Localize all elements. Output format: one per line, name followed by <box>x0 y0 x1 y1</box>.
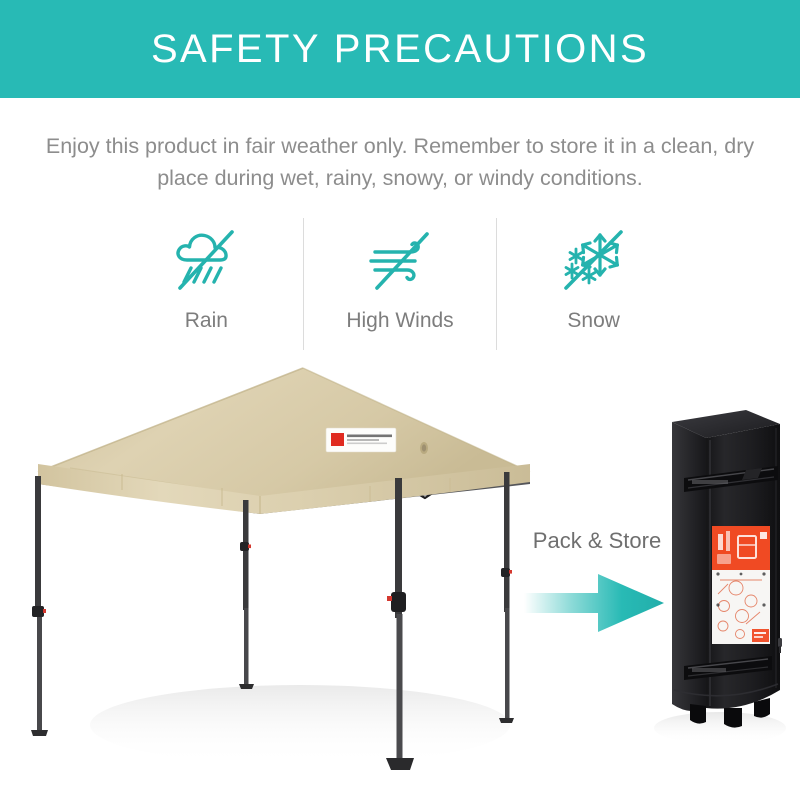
leg-adjust-button <box>387 596 392 601</box>
leg-adjust-button <box>248 545 251 549</box>
intro-paragraph: Enjoy this product in fair weather only.… <box>40 130 760 194</box>
header-banner: SAFETY PRECAUTIONS <box>0 0 800 98</box>
canopy-leg-right <box>499 472 514 723</box>
rolling-carry-bag <box>650 398 800 758</box>
bag-shadow <box>654 712 786 744</box>
leg-foot <box>386 758 414 770</box>
leg-foot <box>239 684 254 689</box>
leg-foot <box>31 730 48 736</box>
page-title: SAFETY PRECAUTIONS <box>151 29 649 69</box>
leg-adjust-button <box>509 570 512 574</box>
ground-shadow <box>90 685 510 765</box>
conditions-row: Rain High Winds <box>110 218 690 350</box>
pop-up-canopy <box>10 360 550 780</box>
condition-label: High Winds <box>346 310 453 331</box>
canopy-leg-center <box>239 500 254 689</box>
condition-label: Snow <box>567 310 620 331</box>
bag-product-label <box>712 526 770 644</box>
leg-adjust-clamp <box>32 606 44 617</box>
condition-item-high-winds: High Winds <box>304 218 497 350</box>
canopy-leg-left <box>31 476 48 736</box>
condition-item-rain: Rain <box>110 218 303 350</box>
leg-adjust-button <box>43 609 46 613</box>
leg-adjust-clamp <box>391 592 406 612</box>
no-wind-icon <box>357 218 443 304</box>
leg-foot <box>499 718 514 723</box>
leg-adjust-clamp <box>240 542 249 551</box>
no-rain-cloud-icon <box>163 218 249 304</box>
product-scene: Pack & Store <box>0 360 800 800</box>
leg-adjust-clamp <box>501 568 510 577</box>
condition-item-snow: Snow <box>497 218 690 350</box>
no-snowflake-icon <box>551 218 637 304</box>
pack-store-arrow-icon <box>524 572 664 634</box>
condition-label: Rain <box>185 310 228 331</box>
brand-logo-mark <box>331 433 344 446</box>
canopy-brand-label <box>326 428 396 452</box>
